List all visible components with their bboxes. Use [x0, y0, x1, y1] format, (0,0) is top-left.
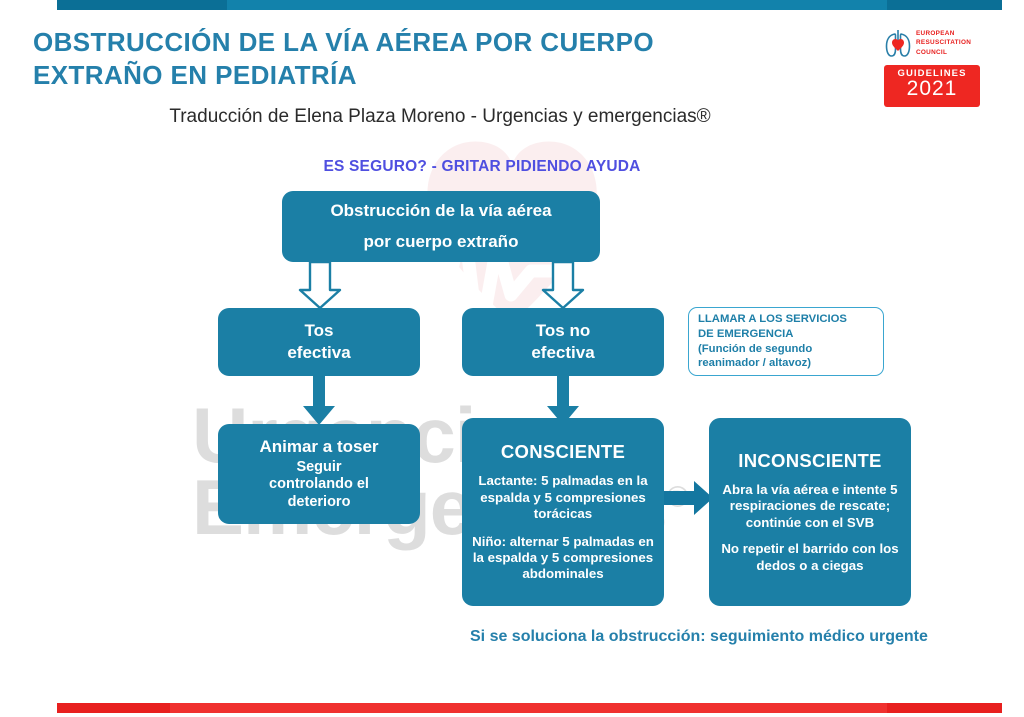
- unconscious-paragraph-1: Abra la vía aérea e intente 5 respiracio…: [717, 482, 903, 531]
- arrow-conscious-to-unconscious: [658, 478, 714, 518]
- arrow-cough-effective-to-encourage: [302, 376, 336, 426]
- unconscious-paragraph-2: No repetir el barrido con los dedos o a …: [717, 541, 903, 574]
- node-main-line-1: Obstrucción de la vía aérea: [330, 201, 551, 221]
- node-cough-effective-line-1: Tos: [305, 320, 334, 342]
- node-main-line-2: por cuerpo extraño: [364, 232, 519, 252]
- encourage-heading: Animar a toser: [259, 437, 378, 457]
- node-cough-ineffective[interactable]: Tos no efectiva: [462, 308, 664, 376]
- unconscious-heading: INCONSCIENTE: [738, 450, 881, 472]
- conscious-paragraph-1: Lactante: 5 palmadas en la espalda y 5 c…: [470, 473, 656, 522]
- encourage-body: Seguir controlando el deterioro: [269, 459, 369, 511]
- call-line-1: LLAMAR A LOS SERVICIOS: [698, 312, 847, 327]
- arrow-main-to-cough-ineffective: [540, 262, 586, 310]
- node-cough-effective[interactable]: Tos efectiva: [218, 308, 420, 376]
- node-cough-ineffective-line-1: Tos no: [536, 320, 590, 342]
- encourage-body-line-2: controlando el: [269, 476, 369, 493]
- node-foreign-body-obstruction[interactable]: Obstrucción de la vía aérea por cuerpo e…: [282, 191, 600, 262]
- conscious-paragraph-2: Niño: alternar 5 palmadas en la espalda …: [470, 534, 656, 583]
- node-unconscious[interactable]: INCONSCIENTE Abra la vía aérea e intente…: [709, 418, 911, 606]
- bottom-rule-gap-right: [1002, 703, 1024, 713]
- call-line-2: DE EMERGENCIA: [698, 327, 793, 342]
- safety-banner: ES SEGURO? - GRITAR PIDIENDO AYUDA: [272, 158, 692, 176]
- node-encourage-coughing[interactable]: Animar a toser Seguir controlando el det…: [218, 424, 420, 524]
- node-cough-ineffective-line-2: efectiva: [531, 342, 594, 364]
- encourage-body-line-1: Seguir: [269, 459, 369, 476]
- bottom-rule: [0, 703, 1024, 713]
- resolution-note: Si se soluciona la obstrucción: seguimie…: [470, 626, 970, 647]
- bottom-rule-segment-main: [170, 703, 887, 713]
- bottom-rule-segment-dark-right: [887, 703, 1002, 713]
- poster-page: Urgencias y Emergencias® OBSTRUCCIÓN DE …: [0, 0, 1024, 717]
- node-cough-effective-line-2: efectiva: [287, 342, 350, 364]
- arrow-main-to-cough-effective: [297, 262, 343, 310]
- call-line-4: reanimador / altavoz): [698, 356, 811, 371]
- node-conscious[interactable]: CONSCIENTE Lactante: 5 palmadas en la es…: [462, 418, 664, 606]
- algorithm-flowchart: ES SEGURO? - GRITAR PIDIENDO AYUDA Obstr…: [0, 0, 1024, 717]
- bottom-rule-gap-left: [0, 703, 57, 713]
- bottom-rule-segment-dark-left: [57, 703, 170, 713]
- call-line-3: (Función de segundo: [698, 342, 812, 357]
- conscious-heading: CONSCIENTE: [501, 441, 625, 463]
- encourage-body-line-3: deterioro: [269, 494, 369, 511]
- node-call-emergency-services[interactable]: LLAMAR A LOS SERVICIOS DE EMERGENCIA (Fu…: [688, 307, 884, 376]
